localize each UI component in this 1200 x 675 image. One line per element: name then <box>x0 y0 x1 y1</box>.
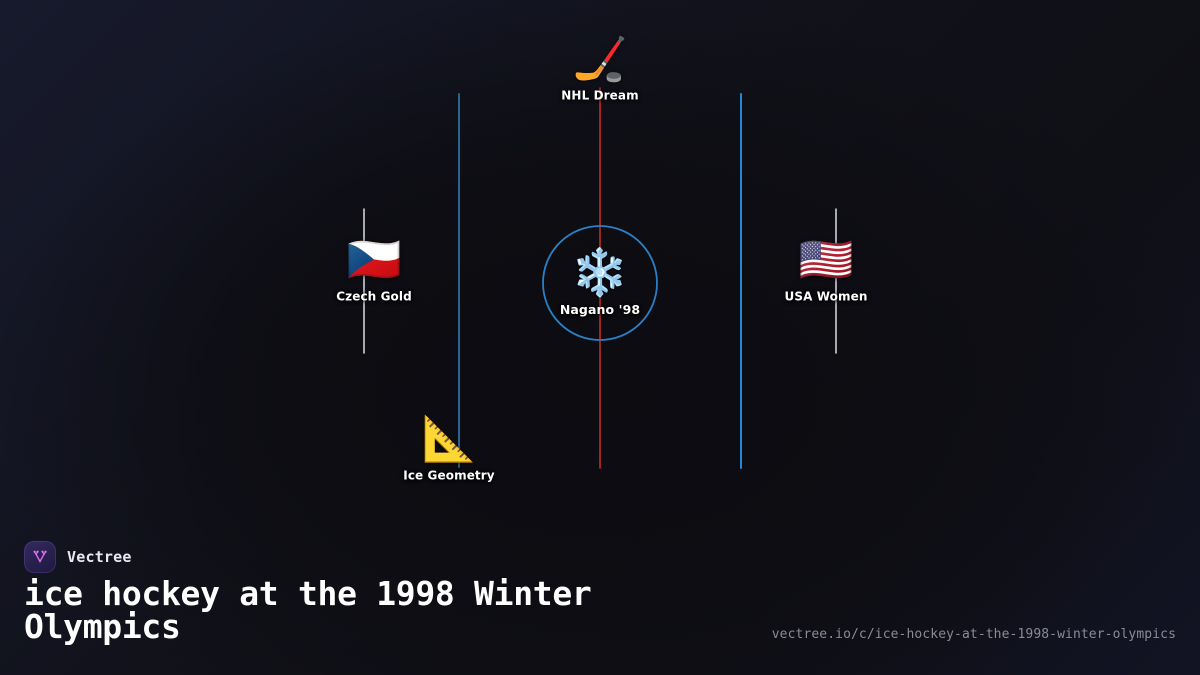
footer-bar: Vectree ice hockey at the 1998 Winter Ol… <box>0 525 1200 675</box>
page-url: vectree.io/c/ice-hockey-at-the-1998-wint… <box>772 627 1176 642</box>
graph-node-label: Ice Geometry <box>403 469 494 483</box>
vectree-v-tree-icon <box>24 541 56 573</box>
snowflake-icon: ❄️ <box>571 249 628 295</box>
graph-node-nhl-dream[interactable]: 🏒 NHL Dream <box>515 38 685 103</box>
graph-node-nagano-98[interactable]: ❄️ Nagano '98 <box>515 249 685 317</box>
graph-node-label: USA Women <box>785 290 868 304</box>
triangular-ruler-icon: 📐 <box>422 418 477 462</box>
graph-node-czech-gold[interactable]: 🇨🇿 Czech Gold <box>289 239 459 304</box>
screenshot-canvas: 🏒 NHL Dream 🇨🇿 Czech Gold 🇺🇸 USA Women 📐… <box>0 0 1200 675</box>
graph-node-label: Czech Gold <box>336 290 412 304</box>
page-title: ice hockey at the 1998 Winter Olympics <box>24 577 704 643</box>
graph-node-ice-geometry[interactable]: 📐 Ice Geometry <box>364 418 534 483</box>
flag-united-states-icon: 🇺🇸 <box>799 239 854 283</box>
brand-name: Vectree <box>67 548 132 566</box>
graph-node-label: NHL Dream <box>561 89 638 103</box>
ice-hockey-stick-icon: 🏒 <box>573 38 628 82</box>
flag-czech-republic-icon: 🇨🇿 <box>347 239 402 283</box>
graph-node-label: Nagano '98 <box>560 302 640 317</box>
brand[interactable]: Vectree <box>24 541 132 573</box>
graph-node-usa-women[interactable]: 🇺🇸 USA Women <box>741 239 911 304</box>
